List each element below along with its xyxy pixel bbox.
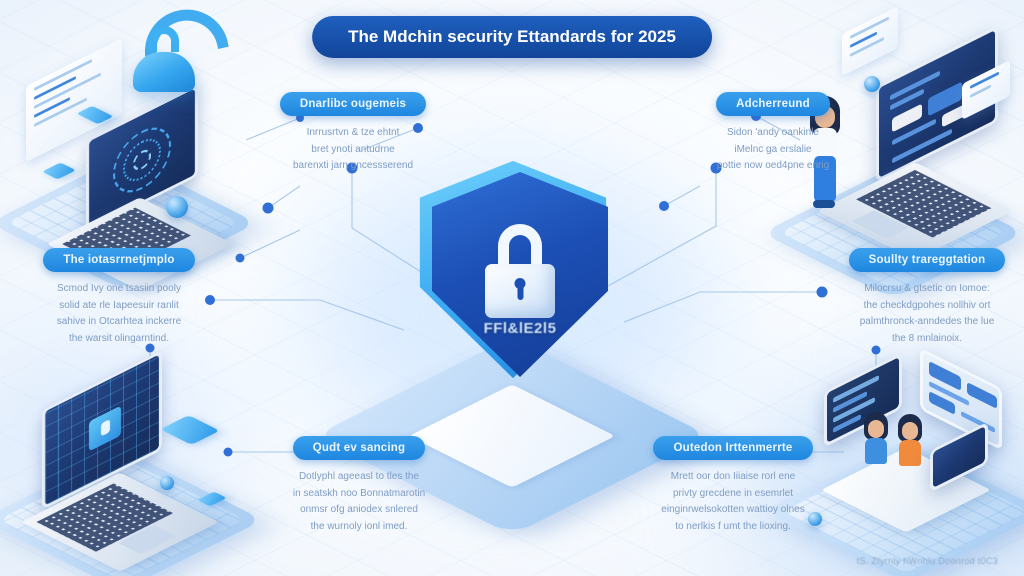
hero-lock-icon <box>133 38 195 92</box>
node-mid-right[interactable]: Soullty trareggtation Milocrsu & gtsetic… <box>822 248 1024 347</box>
center-shield: FFl&lE2l5 <box>432 172 608 377</box>
node-desc-top-right: Sidon 'andy oankinle iMelnc ga erslalie … <box>668 125 878 175</box>
infographic-canvas: FFl&lE2l5 The Mdchin security Ettandards… <box>0 0 1024 576</box>
node-pill-top-left[interactable]: Dnarlibc ougemeis <box>280 92 426 116</box>
shield-inner-layer: FFl&lE2l5 <box>432 172 608 377</box>
node-pill-bottom-right[interactable]: Outedon Irttenmerrte <box>653 436 812 460</box>
node-top-right[interactable]: Adcherreund Sidon 'andy oankinle iMelnc … <box>668 92 878 175</box>
node-bottom-right[interactable]: Outedon Irttenmerrte Mrett oor don Iiiai… <box>628 436 838 535</box>
footer-caption: tS. Ztyrnly hWnhlu Doonrod t0C3 <box>857 556 998 566</box>
node-desc-bottom-left: Dotlyphl ageeasl to tles the in seatskh … <box>254 469 464 535</box>
node-desc-bottom-right: Mrett oor don Iiiaise rorl ene privty gr… <box>628 469 838 535</box>
node-pill-top-right[interactable]: Adcherreund <box>716 92 830 116</box>
orb-prop <box>166 196 188 218</box>
node-desc-mid-left: Scmod Ivy one tsasiin pooly solid ate rl… <box>14 281 224 347</box>
node-top-left[interactable]: Dnarlibc ougemeis Inrrusrtvn & tze ehtnt… <box>248 92 458 175</box>
floating-window-card <box>842 6 898 76</box>
node-pill-mid-right[interactable]: Soullty trareggtation <box>849 248 1006 272</box>
node-mid-left[interactable]: The iotasrrnetjmplo Scmod Ivy one tsasii… <box>14 248 224 347</box>
node-bottom-left[interactable]: Qudt ev sancing Dotlyphl ageeasl to tles… <box>254 436 464 535</box>
wall-monitor-left <box>824 352 902 447</box>
node-desc-mid-right: Milocrsu & gtsetic on Iomoe: the checkdg… <box>822 281 1024 347</box>
padlock-icon <box>485 224 555 318</box>
node-pill-bottom-left[interactable]: Qudt ev sancing <box>293 436 425 460</box>
node-desc-top-left: Inrrusrtvn & tze ehtnt bret ynoti antudr… <box>248 125 458 175</box>
device-prop <box>160 415 219 445</box>
crystal-prop <box>42 163 76 180</box>
orb-prop <box>864 76 880 92</box>
node-pill-mid-left[interactable]: The iotasrrnetjmplo <box>43 248 194 272</box>
page-title: The Mdchin security Ettandards for 2025 <box>312 16 712 58</box>
orb-prop <box>160 476 174 490</box>
